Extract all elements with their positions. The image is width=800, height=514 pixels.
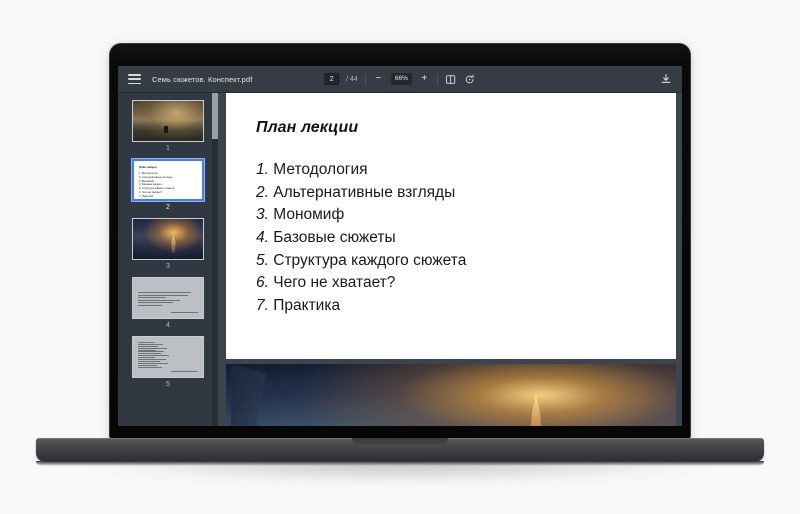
screen-body: 1 План лекции 1. Методология 2. Альтерна… [118,93,682,426]
fit-page-icon[interactable] [445,73,457,85]
thumbnail-item-4[interactable]: 4 [132,277,204,332]
slide-title: План лекции [256,119,676,137]
base-foot [36,461,764,466]
thumbnail-page-label: 5 [166,381,170,388]
thumbnail-list: 1 План лекции 1. Методология 2. Альтерна… [118,100,218,395]
agenda-item-text: Базовые сюжеты [273,229,395,246]
agenda-item: 3. Мономиф [256,204,676,227]
zoom-out-button[interactable]: − [373,74,384,85]
thumbnail-preview [132,218,204,260]
castle-artwork [133,219,203,259]
agenda-item: 1. Методология [256,159,676,182]
next-slide-artwork [226,364,676,426]
agenda-item: 7. Практика [256,295,676,318]
pdf-toolbar: Семь сюжетов. Конспект.pdf 2 / 44 − 66% … [118,66,682,93]
thumbnail-page-label: 3 [166,263,170,270]
agenda-item-number: 4. [256,229,269,246]
agenda-item-text: Структура каждого сюжета [273,252,466,269]
thumbnail-page-label: 4 [166,322,170,329]
document-title: Семь сюжетов. Конспект.pdf [152,75,252,84]
page-number-input[interactable]: 2 [324,73,339,85]
agenda-item-number: 6. [256,274,269,291]
dense-text-slide-preview [133,337,203,377]
agenda-item: 6. Чего не хватает? [256,272,676,295]
agenda-item-text: Чего не хватает? [273,274,395,291]
pdf-page-sheet: План лекции 1. Методология 2. Альтернати… [226,93,676,426]
base-notch [352,438,448,447]
seascape-artwork [133,101,203,141]
agenda-item-text: Альтернативные взгляды [273,184,455,201]
thumbnail-item-5[interactable]: 5 [132,336,204,391]
agenda-item-number: 5. [256,252,269,269]
toolbar-right-group [660,73,672,85]
download-icon[interactable] [660,73,672,85]
rotate-icon[interactable] [464,73,476,85]
thumbnail-item-1[interactable]: 1 [132,100,204,155]
agenda-item: 4. Базовые сюжеты [256,227,676,250]
mini-slide-row: 7. Практика [139,195,197,199]
mini-slide-title: План лекции [139,165,197,169]
slide-agenda-list: 1. Методология 2. Альтернативные взгляды… [256,159,676,317]
thumbnail-item-2[interactable]: План лекции 1. Методология 2. Альтернати… [132,159,204,214]
thumbnail-item-3[interactable]: 3 [132,218,204,273]
pdf-viewer[interactable]: План лекции 1. Методология 2. Альтернати… [218,93,682,426]
agenda-item-text: Практика [273,297,340,314]
thumbnail-preview [132,336,204,378]
zoom-level-display[interactable]: 66% [391,73,412,85]
text-slide-preview [133,278,203,318]
agenda-item-number: 3. [256,206,269,223]
thumbnail-page-label: 1 [166,145,170,152]
zoom-in-button[interactable]: + [419,74,430,85]
agenda-item-number: 2. [256,184,269,201]
current-slide: План лекции 1. Методология 2. Альтернати… [226,93,676,359]
thumbnail-page-label: 2 [166,204,170,211]
agenda-item-text: Методология [273,161,367,178]
thumbnail-preview: План лекции 1. Методология 2. Альтернати… [132,159,204,201]
toolbar-center-group: 2 / 44 − 66% + [324,73,476,85]
toolbar-left-group: Семь сюжетов. Конспект.pdf [128,74,252,84]
agenda-item: 5. Структура каждого сюжета [256,250,676,273]
thumbnail-preview [132,100,204,142]
toolbar-divider [365,74,366,85]
page-total-label: / 44 [346,76,358,83]
agenda-item-text: Мономиф [273,206,344,223]
cliff-shape [231,364,277,426]
laptop-screen: Семь сюжетов. Конспект.pdf 2 / 44 − 66% … [118,66,682,426]
laptop-base [36,438,764,462]
thumbnail-sidebar[interactable]: 1 План лекции 1. Методология 2. Альтерна… [118,93,218,426]
thumbnail-preview [132,277,204,319]
scene: Семь сюжетов. Конспект.pdf 2 / 44 − 66% … [0,0,800,514]
castle-spire-main [523,393,549,426]
agenda-item-number: 1. [256,161,269,178]
agenda-item: 2. Альтернативные взгляды [256,182,676,205]
agenda-item-number: 7. [256,297,269,314]
hamburger-menu-icon[interactable] [128,74,141,84]
outline-slide-preview: План лекции 1. Методология 2. Альтернати… [134,161,202,199]
toolbar-divider [437,74,438,85]
